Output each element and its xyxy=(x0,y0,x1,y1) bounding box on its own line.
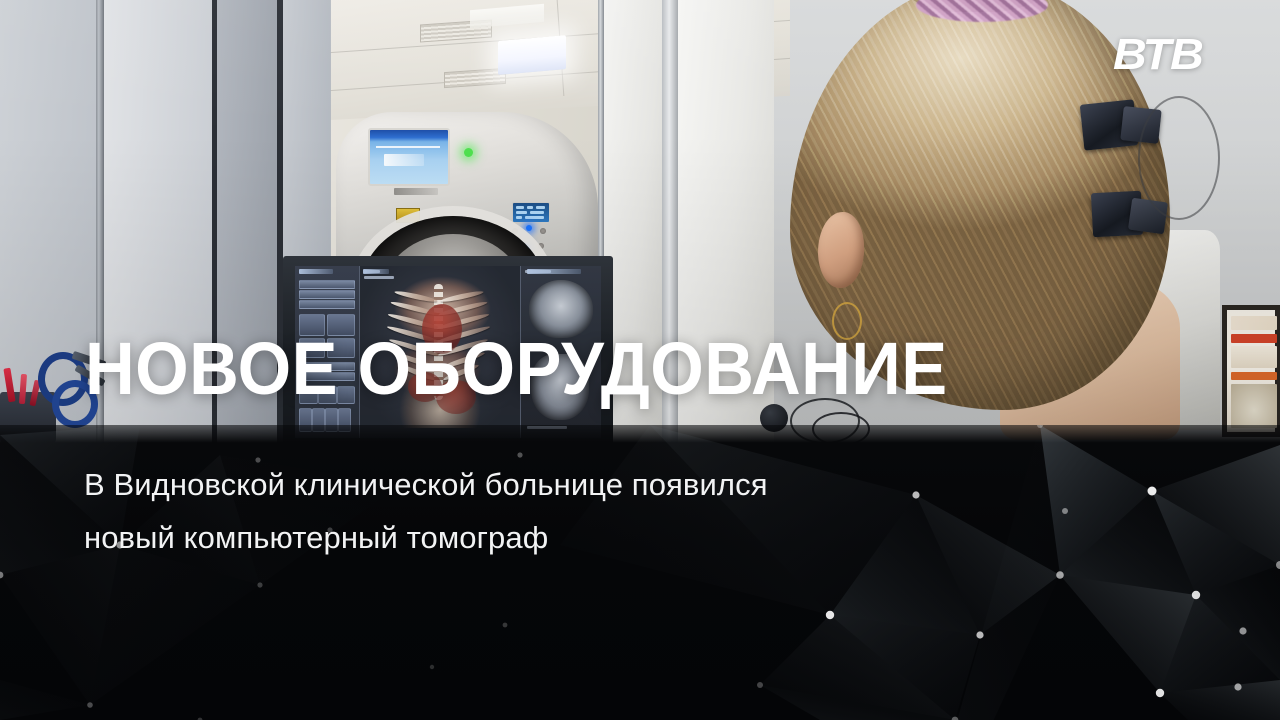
poster-header xyxy=(1231,316,1277,330)
software-title xyxy=(299,269,333,274)
ear xyxy=(818,212,864,288)
gantry-button[interactable] xyxy=(540,228,546,234)
framed-poster xyxy=(1222,305,1280,437)
poster-image xyxy=(1231,384,1277,428)
tool-chip[interactable] xyxy=(299,280,355,289)
gantry-status-led-green xyxy=(464,148,473,157)
broadcast-frame: НОВОЕ ОБОРУДОВАНИЕ В Видновской клиничес… xyxy=(0,0,1280,720)
gantry-display-text xyxy=(384,154,424,166)
poster-body xyxy=(1231,346,1277,368)
gantry-led-blue xyxy=(526,225,532,231)
study-label xyxy=(363,269,389,274)
gantry-display[interactable] xyxy=(368,128,450,186)
gantry-button[interactable] xyxy=(538,243,544,249)
subtitle-line-2: новый компьютерный томограф xyxy=(84,511,768,564)
page-title: НОВОЕ ОБОРУДОВАНИЕ xyxy=(85,332,948,406)
tool-chip[interactable] xyxy=(299,300,355,309)
subtitle: В Видновской клинической больнице появил… xyxy=(84,458,768,564)
ceiling-led-panel xyxy=(498,35,566,75)
subtitle-line-1: В Видновской клинической больнице появил… xyxy=(84,458,768,511)
gantry-control-panel[interactable] xyxy=(512,202,550,223)
poster-accent-band xyxy=(1231,372,1277,380)
gantry-brand-logo xyxy=(394,188,438,195)
channel-logo: ВТВ xyxy=(1113,33,1203,77)
poster-accent-band xyxy=(1231,334,1277,343)
cable-loop xyxy=(1138,96,1220,220)
series-label xyxy=(527,269,581,274)
gantry-display-bar xyxy=(376,146,440,148)
tool-chip[interactable] xyxy=(299,290,355,299)
